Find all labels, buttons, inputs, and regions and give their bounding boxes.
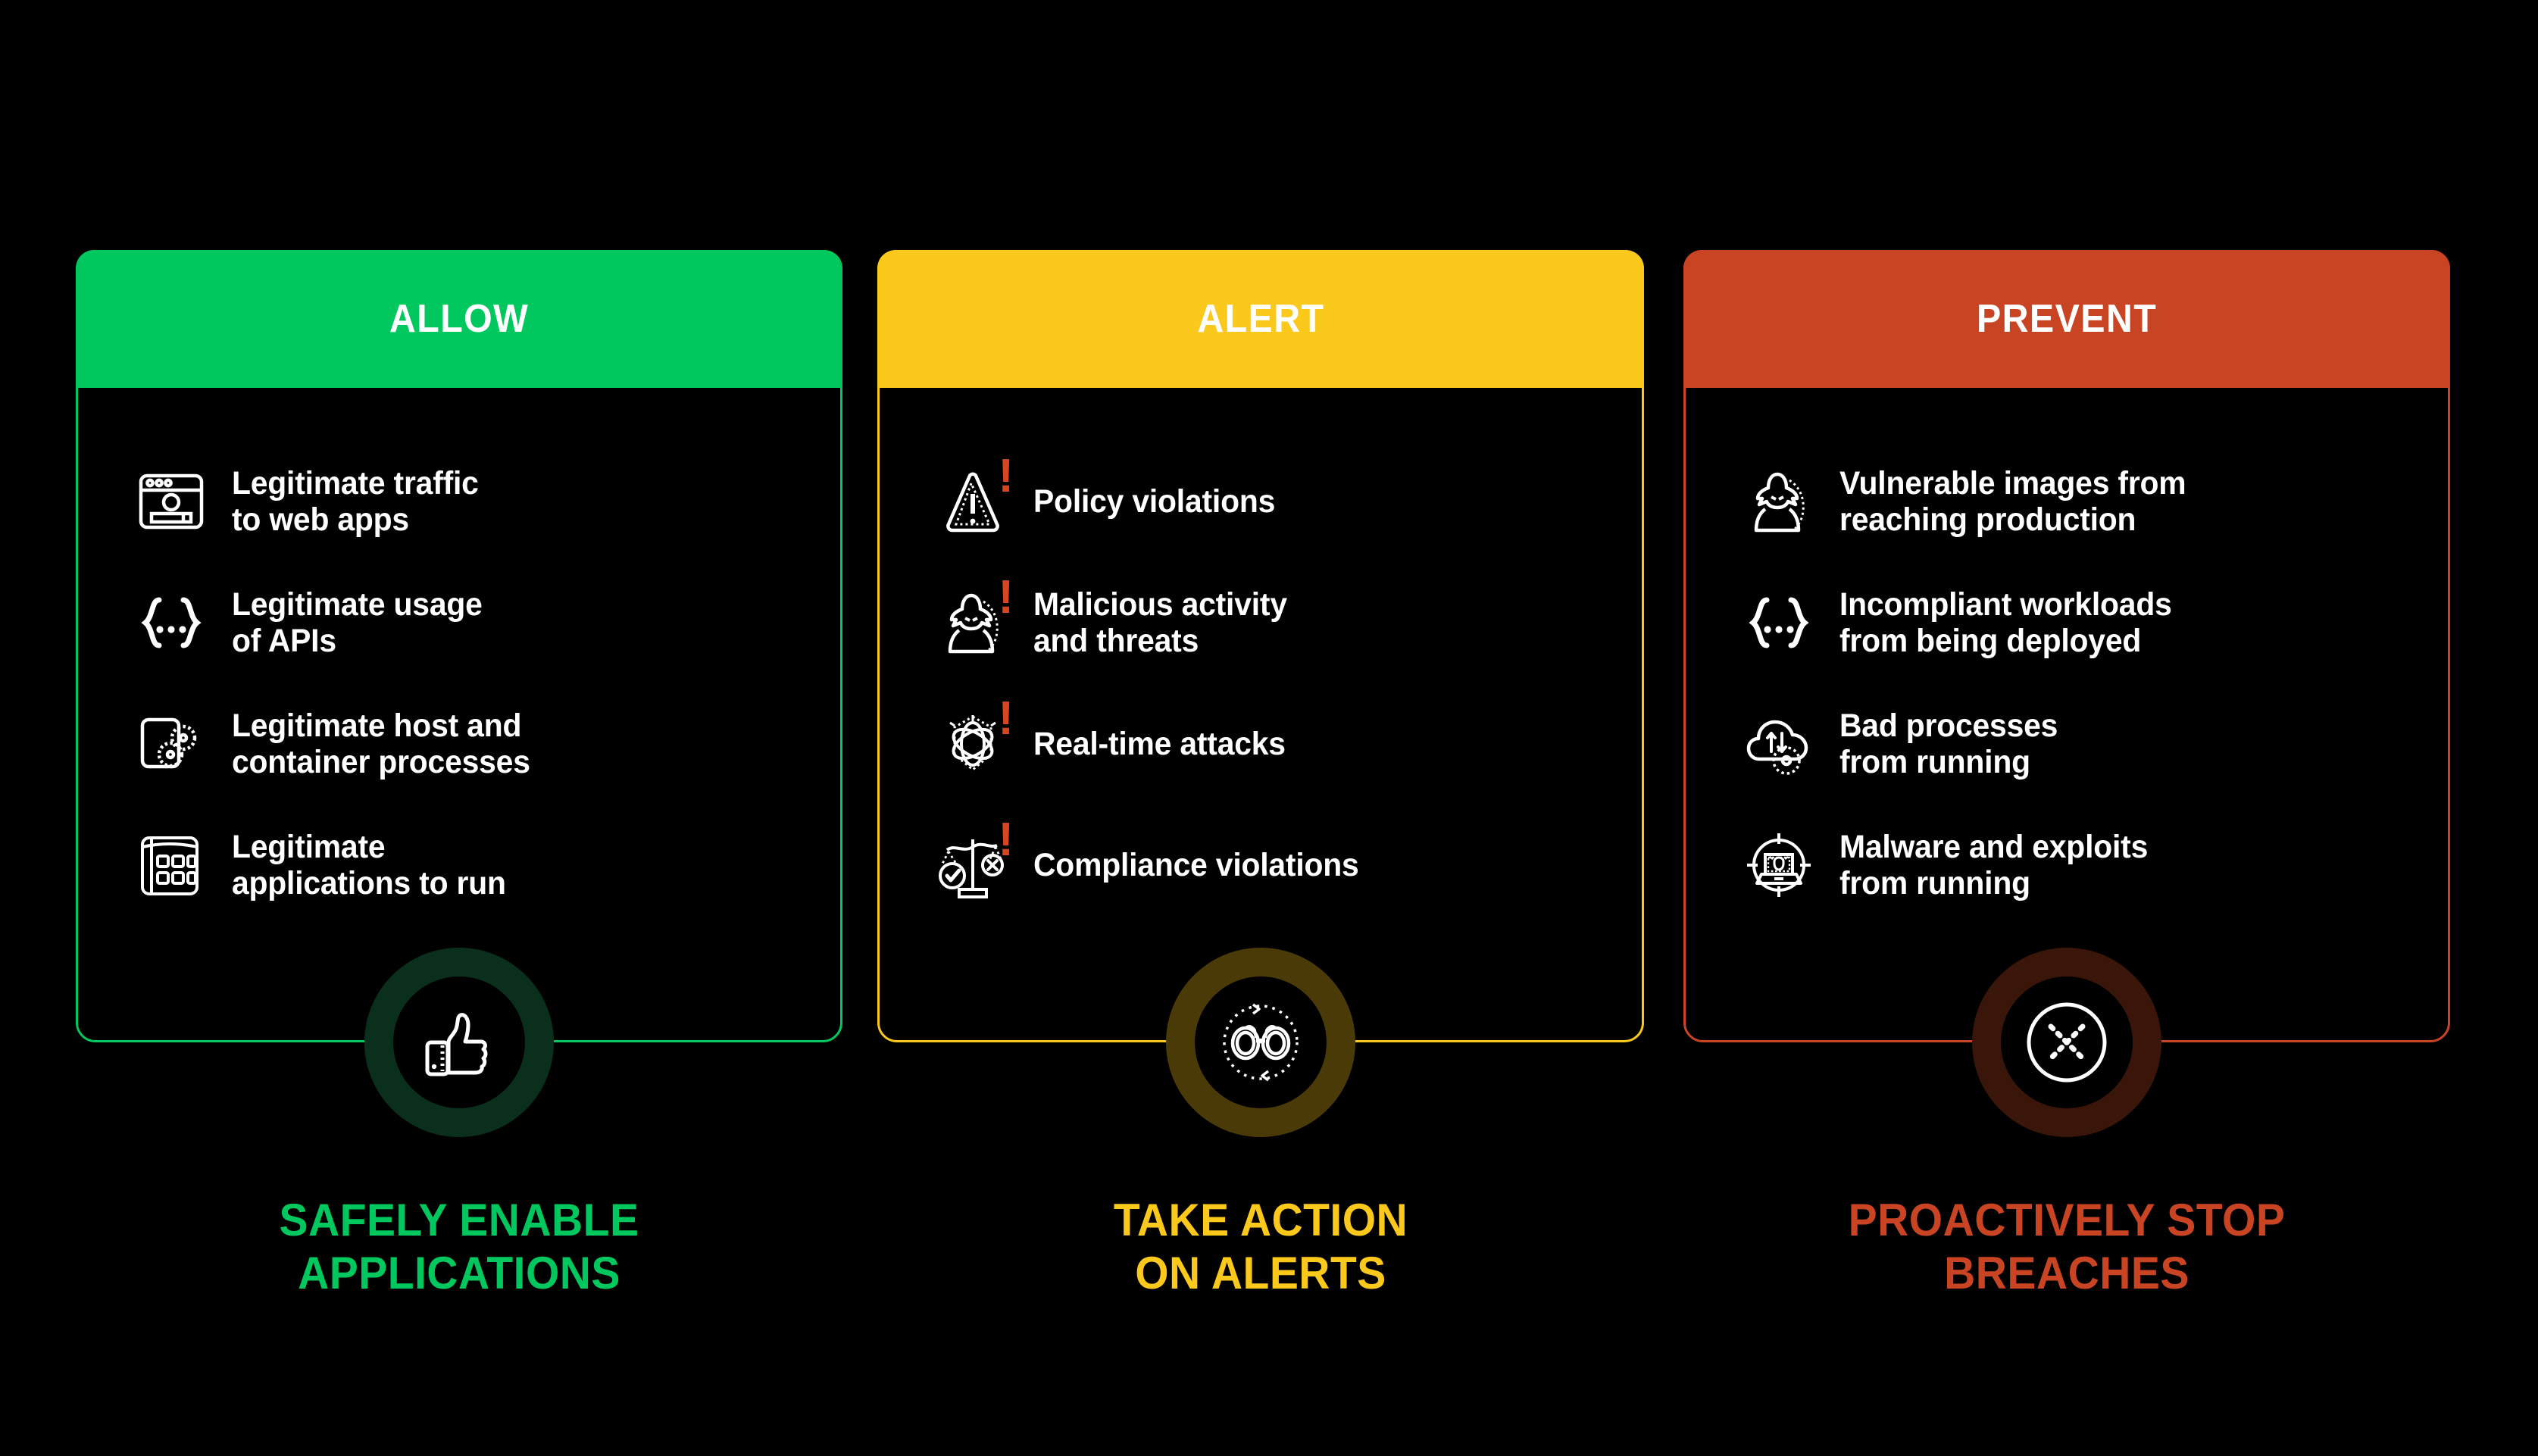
malware-laptop-target-icon — [1733, 820, 1824, 911]
label-line-1: Legitimate — [232, 829, 385, 865]
list-item-label: Legitimate host and container processes — [232, 708, 530, 780]
card-title-prevent: PREVENT — [1977, 299, 2157, 339]
feature-list-alert: ! Policy violations — [877, 388, 1644, 926]
caption-line-2: BREACHES — [1944, 1248, 2189, 1298]
list-item: ! Malicious activity and threats — [877, 562, 1644, 683]
card-title-allow: ALLOW — [389, 299, 529, 339]
list-item-label: Malware and exploits from running — [1839, 829, 2148, 901]
infographic-canvas: ALLOW — [0, 0, 2538, 1456]
label-line-1: Malicious activity — [1033, 586, 1287, 623]
exclamation-badge: ! — [998, 574, 1014, 621]
caption-alert: TAKE ACTION ON ALERTS — [867, 1194, 1653, 1299]
app-grid-icon — [126, 820, 217, 911]
feature-list-allow: Legitimate traffic to web apps — [76, 388, 842, 926]
column-prevent: PREVENT Vulne — [1683, 250, 2450, 1042]
list-item-label: Malicious activity and threats — [1033, 586, 1287, 659]
list-item-label: Policy violations — [1033, 483, 1275, 520]
column-alert: ALERT ! Policy violations — [877, 250, 1644, 1042]
label-line-2: from running — [1839, 744, 2030, 780]
hacker-spy-icon: ! — [927, 577, 1018, 668]
list-item: ! Compliance violations — [877, 805, 1644, 926]
caption-allow: SAFELY ENABLE APPLICATIONS — [66, 1194, 852, 1299]
label-line-2: of APIs — [232, 623, 336, 659]
browser-window-login-icon — [126, 456, 217, 547]
list-item: Legitimate host and container processes — [76, 683, 842, 805]
list-item: Bad processes from running — [1683, 683, 2450, 805]
label-line-2: container processes — [232, 744, 530, 780]
api-braces-icon — [1733, 577, 1824, 668]
label-line-1: Legitimate usage — [232, 586, 483, 623]
list-item-label: Real-time attacks — [1033, 726, 1286, 762]
list-item: Legitimate usage of APIs — [76, 562, 842, 683]
caption-line-1: TAKE ACTION — [1114, 1195, 1408, 1245]
badge-alert — [1166, 948, 1355, 1137]
list-item-label: Incompliant workloads from being deploye… — [1839, 586, 2172, 659]
binoculars-icon — [1212, 994, 1309, 1091]
card-allow: ALLOW — [76, 250, 842, 1042]
card-header-prevent: PREVENT — [1683, 250, 2450, 388]
exclamation-badge: ! — [998, 817, 1014, 864]
exclamation-badge: ! — [998, 695, 1014, 742]
card-alert: ALERT ! Policy violations — [877, 250, 1644, 1042]
list-item-label: Compliance violations — [1033, 847, 1359, 883]
compliance-scale-icon: ! — [927, 820, 1018, 911]
label-line-1: Malware and exploits — [1839, 829, 2148, 865]
label-line-2: to web apps — [232, 501, 409, 538]
list-item-label: Legitimate applications to run — [232, 829, 506, 901]
list-item: Legitimate traffic to web apps — [76, 441, 842, 562]
list-item-label: Vulnerable images from reaching producti… — [1839, 465, 2186, 538]
label-line-2: applications to run — [232, 865, 506, 901]
container-gears-icon — [126, 698, 217, 789]
card-header-allow: ALLOW — [76, 250, 842, 388]
label-line-1: Bad processes — [1839, 708, 2058, 744]
label-line-2: from running — [1839, 865, 2030, 901]
label-line-1: Legitimate host and — [232, 708, 521, 744]
feature-list-prevent: Vulnerable images from reaching producti… — [1683, 388, 2450, 926]
label-line-2: reaching production — [1839, 501, 2136, 538]
card-header-alert: ALERT — [877, 250, 1644, 388]
list-item: ! Policy violations — [877, 441, 1644, 562]
label-line-1: Vulnerable images from — [1839, 465, 2186, 501]
label-line-1: Incompliant workloads — [1839, 586, 2172, 623]
label-line-1: Legitimate traffic — [232, 465, 479, 501]
caption-prevent: PROACTIVELY STOP BREACHES — [1674, 1194, 2459, 1299]
list-item: Legitimate applications to run — [76, 805, 842, 926]
atom-attack-icon: ! — [927, 698, 1018, 789]
hacker-spy-icon — [1733, 456, 1824, 547]
badge-allow — [364, 948, 554, 1137]
list-item-label: Bad processes from running — [1839, 708, 2058, 780]
list-item-label: Legitimate usage of APIs — [232, 586, 483, 659]
warning-triangle-icon: ! — [927, 456, 1018, 547]
badge-prevent — [1972, 948, 2161, 1137]
cloud-gear-transfer-icon — [1733, 698, 1824, 789]
list-item: Malware and exploits from running — [1683, 805, 2450, 926]
caption-line-1: PROACTIVELY STOP — [1849, 1195, 2286, 1245]
list-item: Incompliant workloads from being deploye… — [1683, 562, 2450, 683]
list-item: ! Real-time attacks — [877, 683, 1644, 805]
exclamation-badge: ! — [998, 453, 1014, 500]
card-prevent: PREVENT Vulne — [1683, 250, 2450, 1042]
caption-line-2: ON ALERTS — [1135, 1248, 1386, 1298]
list-item-label: Legitimate traffic to web apps — [232, 465, 479, 538]
card-title-alert: ALERT — [1197, 299, 1324, 339]
caption-line-1: SAFELY ENABLE — [280, 1195, 639, 1245]
caption-line-2: APPLICATIONS — [298, 1248, 620, 1298]
label-line-2: from being deployed — [1839, 623, 2141, 659]
label-line-2: and threats — [1033, 623, 1199, 659]
thumbs-up-icon — [417, 1000, 502, 1085]
column-allow: ALLOW — [76, 250, 842, 1042]
list-item: Vulnerable images from reaching producti… — [1683, 441, 2450, 562]
circle-x-icon — [2019, 995, 2114, 1090]
api-braces-icon — [126, 577, 217, 668]
